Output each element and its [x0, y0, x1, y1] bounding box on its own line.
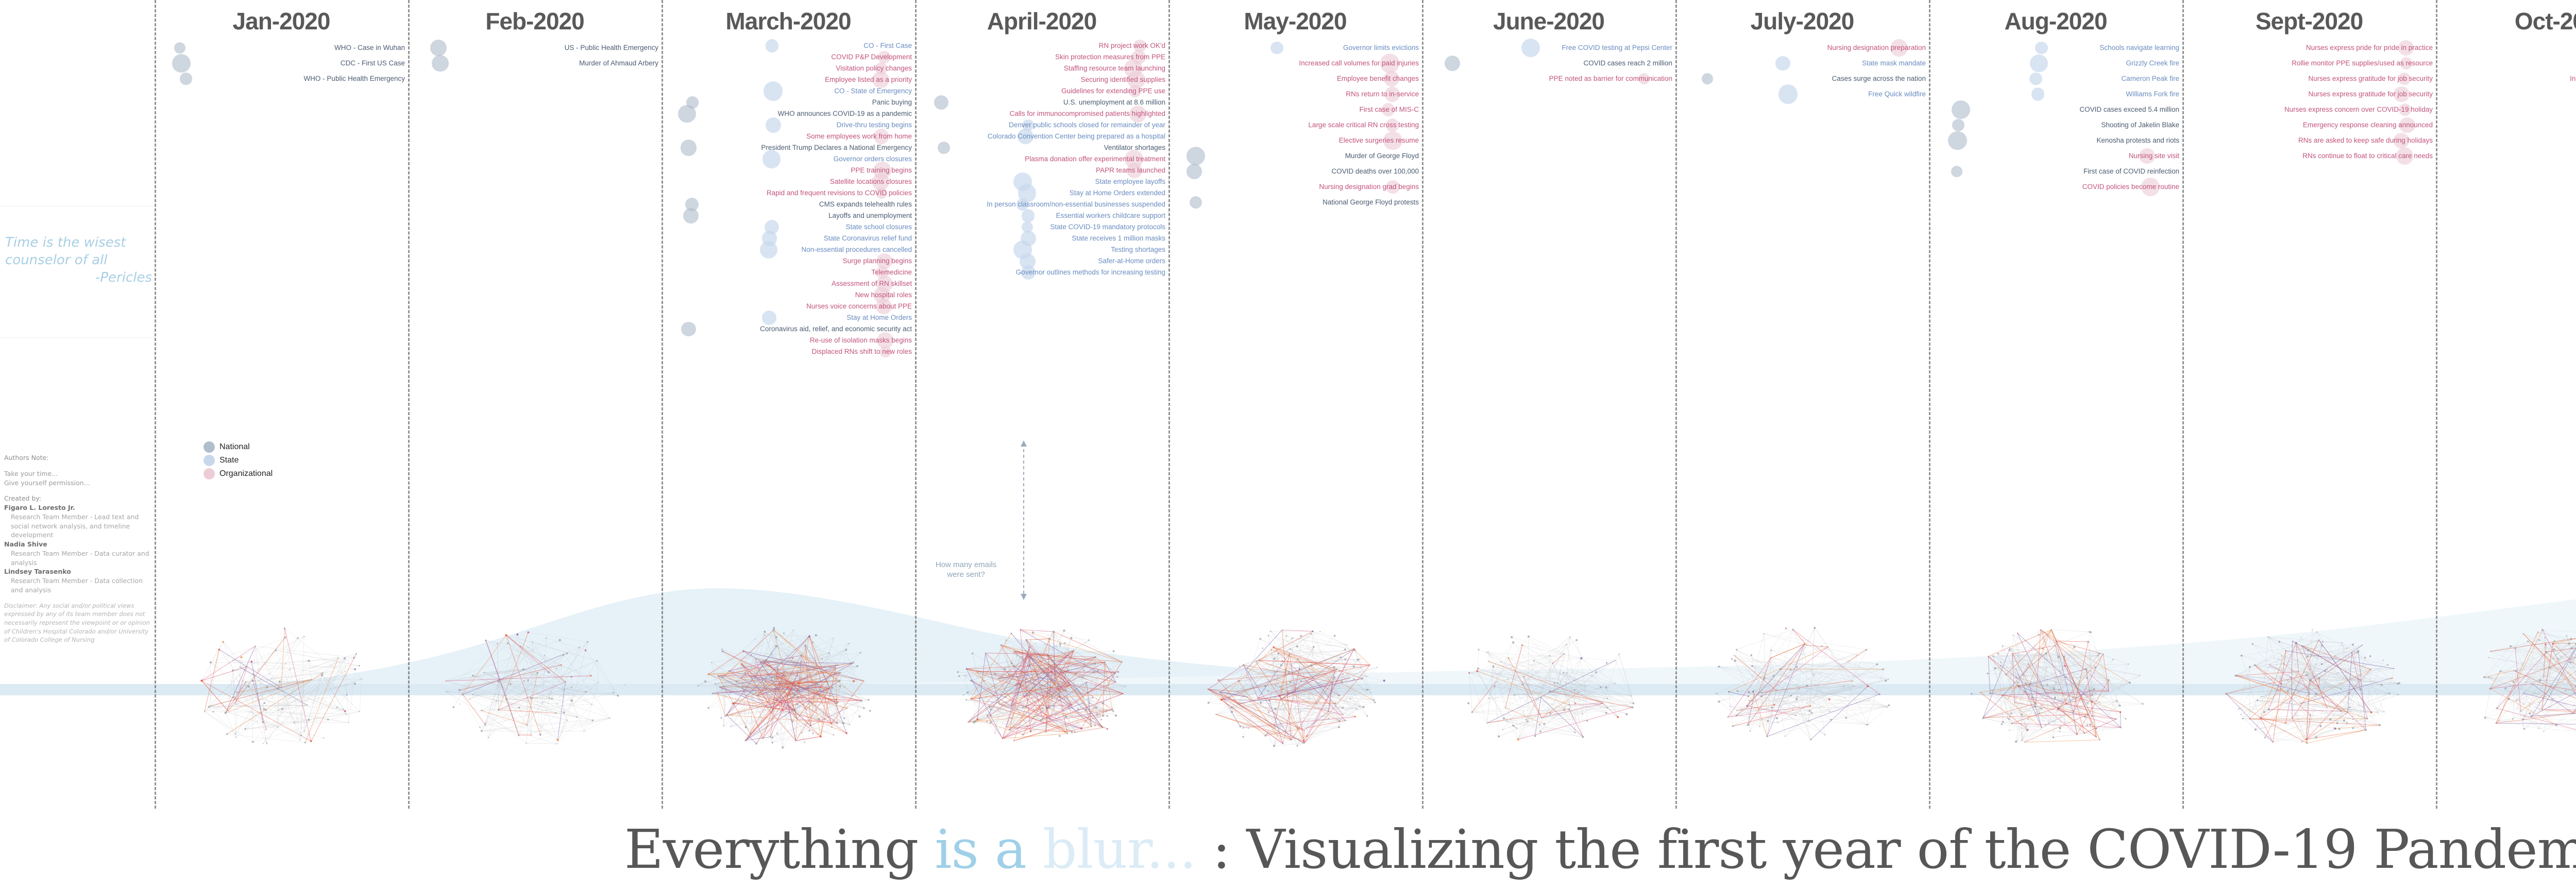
event-bubble [2398, 73, 2410, 84]
event-bubble [1778, 84, 1798, 104]
event-item[interactable]: Cameron Peak fire [1929, 71, 2182, 87]
author-name: Lindsey Tarasenko [4, 567, 154, 576]
month-title: July-2020 [1675, 7, 1929, 35]
event-item[interactable]: Free COVID testing at Pepsi Center [1422, 40, 1675, 56]
event-item[interactable]: Virtual staff education [2436, 117, 2576, 133]
event-item[interactable]: Kenosha protests and riots [1929, 133, 2182, 148]
event-item[interactable]: Inpatient units see increase in volume [2436, 71, 2576, 87]
event-bubble [1383, 131, 1402, 150]
event-item[interactable]: Calls for immunocompromised patients hig… [915, 108, 1168, 119]
event-item[interactable]: CMS expands telehealth rules [662, 199, 915, 210]
event-item[interactable]: Coronavirus aid, relief, and economic se… [662, 323, 915, 335]
title-part-1: Everything [624, 818, 935, 881]
event-item[interactable]: CDC - First US Case [155, 56, 408, 71]
month-title: Feb-2020 [408, 7, 662, 35]
event-item[interactable]: Telemedicine [662, 267, 915, 278]
event-list: Nurse observe division in AmericaVisitat… [2436, 40, 2576, 133]
month-column-june-2020: June-2020Free COVID testing at Pepsi Cen… [1422, 0, 1675, 809]
event-item[interactable]: Emergency response cleaning announced [2182, 117, 2436, 133]
event-item[interactable]: Securing identified supplies [915, 74, 1168, 85]
footer-title-bar: Everything is a blur... : Visualizing th… [0, 809, 2576, 890]
title-part-3: blur... [1043, 818, 1212, 881]
author-name: Figaro L. Loresto Jr. [4, 503, 154, 512]
month-title: Oct-2020 [2436, 7, 2576, 35]
event-bubble [1380, 54, 1399, 73]
month-title: June-2020 [1422, 7, 1675, 35]
event-bubble [1386, 180, 1400, 194]
event-bubble [172, 54, 191, 73]
month-column-jan-2020: Jan-2020WHO - Case in WuhanCDC - First U… [155, 0, 408, 809]
event-bubble [1021, 265, 1036, 280]
legend-label-organizational: Organizational [219, 469, 273, 478]
event-item[interactable]: Williams Fork fire [1929, 87, 2182, 102]
event-item[interactable]: CO - First Case [662, 40, 915, 52]
month-title: May-2020 [1168, 7, 1422, 35]
event-item[interactable]: Rapid and frequent revisions to COVID po… [662, 187, 915, 199]
event-item[interactable]: Drive-thru testing begins [662, 119, 915, 131]
event-bubble [1638, 73, 1650, 84]
event-list: Free COVID testing at Pepsi CenterCOVID … [1422, 40, 1675, 87]
event-bubble [1890, 39, 1908, 57]
event-item[interactable]: Cases surge across the nation [1675, 71, 1929, 87]
event-list: Nurses express pride for pride in practi… [2182, 40, 2436, 164]
event-bubble [1022, 209, 1035, 222]
event-bubble [1952, 100, 1970, 119]
month-title: March-2020 [662, 7, 915, 35]
author-name: Nadia Shive [4, 540, 154, 549]
event-item[interactable]: Elective surgeries resume [1168, 133, 1422, 148]
event-bubble [2394, 87, 2409, 102]
month-title: Jan-2020 [155, 7, 408, 35]
event-item[interactable]: Nurses express concern over COVID-19 hol… [2182, 102, 2436, 117]
event-item[interactable]: First case of COVID reinfection [1929, 164, 2182, 179]
month-column-march-2020: March-2020CO - First CaseCOVID P&P Devel… [662, 0, 915, 809]
event-bubble [934, 95, 948, 110]
event-bubble [876, 187, 887, 199]
event-item[interactable]: Schools navigate learning [1929, 40, 2182, 56]
event-item[interactable]: Visitation policy changes [662, 63, 915, 74]
event-list: Nursing designation preparationState mas… [1675, 40, 1929, 102]
event-item[interactable]: Surge planning begins [662, 255, 915, 267]
event-item[interactable]: First case of MIS-C [1168, 102, 1422, 117]
event-bubble [1445, 56, 1460, 71]
event-item[interactable]: Murder of George Floyd [1168, 148, 1422, 164]
month-column-sept-2020: Sept-2020Nurses express pride for pride … [2182, 0, 2436, 809]
event-item[interactable]: Displaced RNs shift to new roles [662, 346, 915, 357]
event-item[interactable]: Nursing designation preparation [1675, 40, 1929, 56]
event-item[interactable]: Stay at Home Orders extended [915, 187, 1168, 199]
event-bubble [2031, 88, 2045, 101]
event-bubble [1133, 40, 1146, 53]
event-bubble [2141, 178, 2160, 196]
event-bubble [174, 42, 185, 54]
event-list: Schools navigate learningGrizzly Creek f… [1929, 40, 2182, 195]
event-item[interactable]: Increased call volumes for paid injuries [1168, 56, 1422, 71]
event-item[interactable]: Some employees work from home [662, 131, 915, 142]
event-bubble [1386, 118, 1399, 131]
legend-swatch-state [204, 455, 215, 466]
event-item[interactable]: Satellite locations closures [662, 176, 915, 187]
event-bubble [1270, 42, 1283, 54]
event-bubble [1131, 50, 1145, 64]
event-bubble [1775, 56, 1790, 71]
event-item[interactable]: Approval for overtime [2436, 87, 2576, 102]
event-bubble [1702, 73, 1713, 84]
title-part-2: is a [935, 818, 1043, 881]
event-item[interactable]: Employee benefit changes [1168, 71, 1422, 87]
event-bubble [2139, 148, 2155, 164]
month-column-aug-2020: Aug-2020Schools navigate learningGrizzly… [1929, 0, 2182, 809]
event-bubble [1951, 166, 1962, 177]
event-item[interactable]: Ventilator shortages [915, 142, 1168, 153]
event-item[interactable]: Assessment of RN skillset [662, 278, 915, 289]
event-item[interactable]: Murder of Ahmaud Arbery [408, 56, 662, 71]
event-item[interactable]: Non-essential procedures cancelled [662, 244, 915, 255]
legend-item-state[interactable]: State [204, 454, 273, 467]
event-item[interactable]: State receives 1 million masks [915, 233, 1168, 244]
event-item[interactable]: Re-use of isolation masks begins [662, 335, 915, 346]
created-by-label: Created by: [4, 494, 154, 503]
event-bubble [1187, 164, 1202, 179]
event-bubble [875, 62, 887, 74]
event-bubble [1952, 119, 1964, 131]
event-bubble [2399, 117, 2415, 133]
event-item[interactable]: Skin protection measures from PPE [915, 52, 1168, 63]
month-title: Aug-2020 [1929, 7, 2182, 35]
event-item[interactable]: Nurses express gratitude for job securit… [2182, 71, 2436, 87]
event-bubble [430, 40, 447, 56]
event-item[interactable]: Nurse observe division in America [2436, 40, 2576, 56]
event-bubble [2399, 104, 2411, 116]
event-bubble [686, 96, 698, 108]
event-bubble [1948, 131, 1967, 150]
event-bubble [878, 51, 890, 63]
event-item[interactable]: WHO - Case in Wuhan [155, 40, 408, 56]
month-title: April-2020 [915, 7, 1168, 35]
event-item[interactable]: COVID deaths over 100,000 [1168, 164, 1422, 179]
event-item[interactable]: CO - State of Emergency [662, 85, 915, 97]
event-bubble [938, 142, 950, 154]
event-item[interactable]: Employee listed as a priority [662, 74, 915, 85]
event-list: RN project work OK'dSkin protection meas… [915, 40, 1168, 278]
event-item[interactable]: President Trump Declares a National Emer… [662, 142, 915, 153]
event-item[interactable]: Nursing site visit [1929, 148, 2182, 164]
event-bubble [1129, 85, 1141, 97]
event-bubble [2400, 57, 2412, 69]
sidebar-quote: Time is the wisest counselor of all -Per… [5, 234, 152, 286]
note-line-2: Give yourself permission... [4, 478, 154, 488]
event-item[interactable]: Nurses express pride for pride in practi… [2182, 40, 2436, 56]
event-bubble [2394, 133, 2409, 148]
event-item[interactable]: Governor orders closures [662, 153, 915, 165]
event-bubble [766, 39, 778, 52]
event-list: WHO - Case in WuhanCDC - First US CaseWH… [155, 40, 408, 87]
event-bubble [1022, 119, 1034, 131]
event-item[interactable]: Governor outlines methods for increasing… [915, 267, 1168, 278]
event-bubble [2396, 147, 2413, 164]
disclaimer-text: Disclaimer: Any social and/or political … [4, 602, 154, 644]
event-item[interactable]: PPE training begins [662, 165, 915, 176]
legend-swatch-national [204, 441, 215, 453]
event-item[interactable]: Colorado Convention Center being prepare… [915, 131, 1168, 142]
event-item[interactable]: State school closures [662, 221, 915, 233]
sidebar: Time is the wisest counselor of all -Per… [0, 0, 155, 809]
event-item[interactable]: Essential workers childcare support [915, 210, 1168, 221]
month-column-july-2020: July-2020Nursing designation preparation… [1675, 0, 1929, 809]
event-bubble [1187, 147, 1205, 165]
event-item[interactable]: US - Public Health Emergency [408, 40, 662, 56]
month-column-april-2020: April-2020RN project work OK'dSkin prote… [915, 0, 1168, 809]
event-item[interactable]: New hospital roles [662, 289, 915, 301]
event-item[interactable]: WHO announces COVID-19 as a pandemic [662, 108, 915, 119]
event-item[interactable]: Denver public schools closed for remaind… [915, 119, 1168, 131]
event-item[interactable]: Free Quick wildfire [1675, 87, 1929, 102]
legend-label-state: State [219, 456, 239, 465]
legend-swatch-organizational [204, 468, 215, 480]
event-item[interactable]: Nurses voice concerns about PPE [662, 301, 915, 312]
author-role: Research Team Member - Data collection a… [4, 576, 154, 595]
title-part-4: : Visualizing the first year of the COVI… [1212, 818, 2576, 881]
event-bubble [2035, 42, 2048, 55]
page-title: Everything is a blur... : Visualizing th… [624, 818, 2576, 881]
event-item[interactable]: Large scale critical RN cross testing [1168, 117, 1422, 133]
event-item[interactable]: COVID cases exceed 5.4 million [1929, 102, 2182, 117]
event-item[interactable]: Plasma donation offer experimental treat… [915, 153, 1168, 165]
event-item[interactable]: State employee layoffs [915, 176, 1168, 187]
event-bubble [2030, 55, 2048, 73]
legend: National State Organizational [204, 440, 273, 481]
event-bubble [685, 198, 699, 211]
event-item[interactable]: PPE noted as barrier for communication [1422, 71, 1675, 87]
note-line-1: Take your time... [4, 469, 154, 478]
author-role: Research Team Member - Lead text and soc… [4, 512, 154, 540]
event-item[interactable]: State mask mandate [1675, 56, 1929, 71]
event-item[interactable]: Grizzly Creek fire [1929, 56, 2182, 71]
event-item[interactable]: Governor limits evictions [1168, 40, 1422, 56]
event-item[interactable]: RNs are asked to keep safe during holida… [2182, 133, 2436, 148]
event-item[interactable]: Stay at Home Orders [662, 312, 915, 323]
event-bubble [1016, 198, 1028, 210]
event-bubble [2398, 40, 2414, 56]
event-item[interactable]: RN floated to busy units [2436, 102, 2576, 117]
month-column-feb-2020: Feb-2020US - Public Health EmergencyMurd… [408, 0, 662, 809]
event-item[interactable]: Rollie monitor PPE supplies/used as reso… [2182, 56, 2436, 71]
event-item[interactable]: Safer-at-Home orders [915, 255, 1168, 267]
authors-note-label: Authors Note: [4, 453, 154, 463]
event-item[interactable]: State COVID-19 mandatory protocols [915, 221, 1168, 233]
event-bubble [762, 311, 776, 325]
author-role: Research Team Member - Data curator and … [4, 549, 154, 568]
event-item[interactable]: Nurses express gratitude for job securit… [2182, 87, 2436, 102]
event-item[interactable]: COVID cases reach 2 million [1422, 56, 1675, 71]
event-list: Governor limits evictionsIncreased call … [1168, 40, 1422, 210]
event-bubble [1190, 196, 1202, 209]
sidebar-divider-top [0, 206, 155, 207]
month-column-oct-2020: Oct-2020Nurse observe division in Americ… [2436, 0, 2576, 809]
event-list: CO - First CaseCOVID P&P DevelopmentVisi… [662, 40, 915, 357]
event-item[interactable]: Guidelines for extending PPE use [915, 85, 1168, 97]
event-item[interactable]: RNs return to in-service [1168, 87, 1422, 102]
event-bubble [765, 220, 779, 234]
event-bubble [180, 73, 192, 84]
credits-block: Authors Note: Take your time... Give you… [4, 453, 154, 644]
event-item[interactable]: State Coronavirus relief fund [662, 233, 915, 244]
event-item[interactable]: RNs continue to float to critical care n… [2182, 148, 2436, 164]
month-title: Sept-2020 [2182, 7, 2436, 35]
quote-text: Time is the wisest counselor of all [5, 235, 126, 268]
event-item[interactable]: Visitation policies challenging [2436, 56, 2576, 71]
event-bubble [1521, 39, 1540, 57]
event-list: US - Public Health EmergencyMurder of Ah… [408, 40, 662, 71]
event-item[interactable]: National George Floyd protests [1168, 195, 1422, 210]
event-item[interactable]: U.S. unemployment at 8.6 million [915, 97, 1168, 108]
event-bubble [2029, 73, 2042, 85]
event-item[interactable]: COVID P&P Development [662, 52, 915, 63]
event-item[interactable]: Nursing designation grad begins [1168, 179, 1422, 195]
event-bubble [1382, 103, 1395, 116]
month-column-may-2020: May-2020Governor limits evictionsIncreas… [1168, 0, 1422, 809]
event-bubble [1384, 71, 1399, 87]
event-item[interactable]: Layoffs and unemployment [662, 210, 915, 221]
event-item[interactable]: Staffing resource team launching [915, 63, 1168, 74]
event-item[interactable]: COVID policies become routine [1929, 179, 2182, 195]
event-item[interactable]: WHO - Public Health Emergency [155, 71, 408, 87]
quote-attribution: -Pericles [5, 269, 152, 287]
event-item[interactable]: RN project work OK'd [915, 40, 1168, 52]
event-bubble [1022, 221, 1033, 233]
event-item[interactable]: Panic buying [662, 97, 915, 108]
legend-label-national: National [219, 442, 250, 452]
event-item[interactable]: Shooting of Jakelin Blake [1929, 117, 2182, 133]
event-bubble [876, 266, 889, 279]
event-bubble [879, 346, 891, 358]
event-bubble [432, 55, 449, 72]
legend-item-national[interactable]: National [204, 440, 273, 454]
sidebar-divider-mid [0, 337, 155, 338]
event-bubble [1385, 87, 1400, 101]
event-item[interactable]: Testing shortages [915, 244, 1168, 255]
legend-item-organizational[interactable]: Organizational [204, 467, 273, 481]
event-item[interactable]: PAPR teams launched [915, 165, 1168, 176]
event-item[interactable]: In person classroom/non-essential busine… [915, 199, 1168, 210]
